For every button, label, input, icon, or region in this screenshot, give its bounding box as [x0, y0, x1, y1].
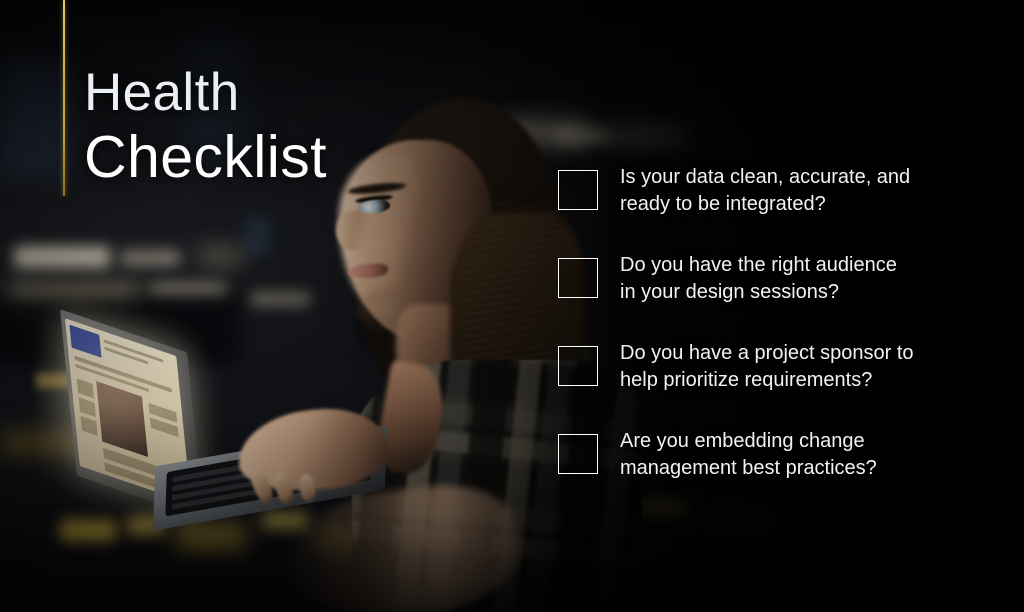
list-item[interactable]: Is your data clean, accurate, and ready … [558, 162, 978, 250]
checkbox-icon[interactable] [558, 434, 598, 474]
presentation-slide: Health Checklist Is your data clean, acc… [0, 0, 1024, 612]
gold-accent-rule [63, 0, 65, 196]
checklist-item-label: Do you have the right audience in your d… [620, 250, 897, 305]
checklist-item-label: Are you embedding change management best… [620, 426, 877, 481]
page-title: Health Checklist [84, 64, 327, 190]
checkbox-icon[interactable] [558, 258, 598, 298]
checklist-item-label: Do you have a project sponsor to help pr… [620, 338, 914, 393]
title-line-health: Health [84, 64, 327, 122]
checkbox-icon[interactable] [558, 346, 598, 386]
list-item[interactable]: Are you embedding change management best… [558, 426, 978, 514]
title-line-checklist: Checklist [84, 124, 327, 190]
checklist-item-label: Is your data clean, accurate, and ready … [620, 162, 910, 217]
list-item[interactable]: Do you have the right audience in your d… [558, 250, 978, 338]
list-item[interactable]: Do you have a project sponsor to help pr… [558, 338, 978, 426]
checklist: Is your data clean, accurate, and ready … [558, 162, 978, 514]
checkbox-icon[interactable] [558, 170, 598, 210]
